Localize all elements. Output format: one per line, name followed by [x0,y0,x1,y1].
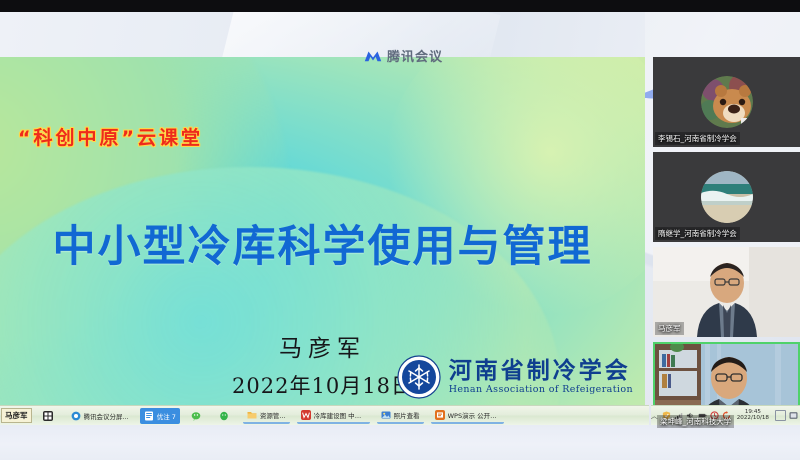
taskbar-item-label: 照片查看 [394,410,420,420]
wechat-icon [191,411,201,421]
tray-clock[interactable]: 19:45 2022/10/18 [737,410,769,422]
browser-icon [71,411,81,421]
participant-name: 隋继学_河南省制冷学会 [655,227,740,240]
windows-taskbar[interactable]: 马彦军 腾讯会议分屏... [0,405,649,425]
slide-banner-text: “科创中原”云课堂 [18,123,203,150]
top-black-bar [0,0,800,12]
taskbar-item-label: WPS演示 公开长龙... [448,410,500,420]
participant-video-sidebar: 李锡石_河南省制冷学会 [645,12,800,460]
taskbar-item-label: 腾讯会议分屏... [84,411,129,421]
participant-tile[interactable]: 马彦军 [653,247,800,337]
taskbar-item-folder[interactable]: 资源管... [243,408,290,424]
shared-window-caption: 马彦军 [1,408,32,423]
folder-icon [247,410,257,420]
participant-name: 李锡石_河南省制冷学会 [655,132,740,145]
desktop-bottom-strip [0,425,800,460]
photos-icon [381,410,391,420]
wps-presentation-icon [435,410,445,420]
participant-tile[interactable]: 隋继学_河南省制冷学会 [653,152,800,242]
taskbar-item-document-active[interactable]: 优注 7 [140,408,180,424]
organization-name-en: Henan Association of Refeigeration [449,385,633,395]
taskbar-item-wechat[interactable] [187,408,208,424]
shared-screen-content: 腾讯会议 “科创中原”云课堂 中小型冷库科学使用与管理 马彦军 2022年10月… [0,12,645,405]
show-desktop-button[interactable] [775,410,786,421]
bear-avatar-icon [701,76,753,128]
folder-explorer-icon [43,411,53,421]
slide-title: 中小型冷库科学使用与管理 [0,212,645,274]
doc-icon [144,411,154,421]
tencent-meeting-mark-icon [364,49,382,63]
taskbar-item-folder-explorer[interactable] [39,408,60,424]
beach-avatar-icon [701,171,753,223]
taskbar-item-qq[interactable] [215,408,236,424]
participant-tile[interactable]: 李锡石_河南省制冷学会 [653,57,800,147]
slide-top-strip [0,12,645,57]
taskbar-item-wps-presentation[interactable]: WPS演示 公开长龙... [431,408,504,424]
qq-icon [219,411,229,421]
snowflake-emblem-icon [397,355,441,399]
taskbar-item-photos[interactable]: 照片查看 [377,408,424,424]
taskbar-item-label: 冷库建设图 中小... [314,410,366,420]
organization-name-cn: 河南省制冷学会 [449,359,633,383]
taskbar-item-label: 优注 7 [157,411,176,421]
taskbar-item-browser[interactable]: 腾讯会议分屏... [67,408,133,424]
slide-sheen [385,57,645,317]
organization-logo: 河南省制冷学会 Henan Association of Refeigerati… [397,355,633,399]
taskbar-item-label: 资源管... [260,410,286,420]
screen: 腾讯会议 “科创中原”云课堂 中小型冷库科学使用与管理 马彦军 2022年10月… [0,0,800,460]
notification-icon[interactable] [789,411,798,420]
participant-name: 马彦军 [655,322,684,335]
participant-name: 梁坤峰_河南科技大学 [657,415,734,428]
tray-date: 2022/10/18 [737,416,769,422]
wps-writer-icon [301,410,311,420]
organization-logo-text: 河南省制冷学会 Henan Association of Refeigerati… [449,359,633,395]
tencent-meeting-label: 腾讯会议 [387,46,443,65]
taskbar-item-wps-writer[interactable]: 冷库建设图 中小... [297,408,370,424]
slide-canvas: “科创中原”云课堂 中小型冷库科学使用与管理 马彦军 2022年10月18日 [0,57,645,405]
tencent-meeting-logo: 腾讯会议 [364,46,443,65]
